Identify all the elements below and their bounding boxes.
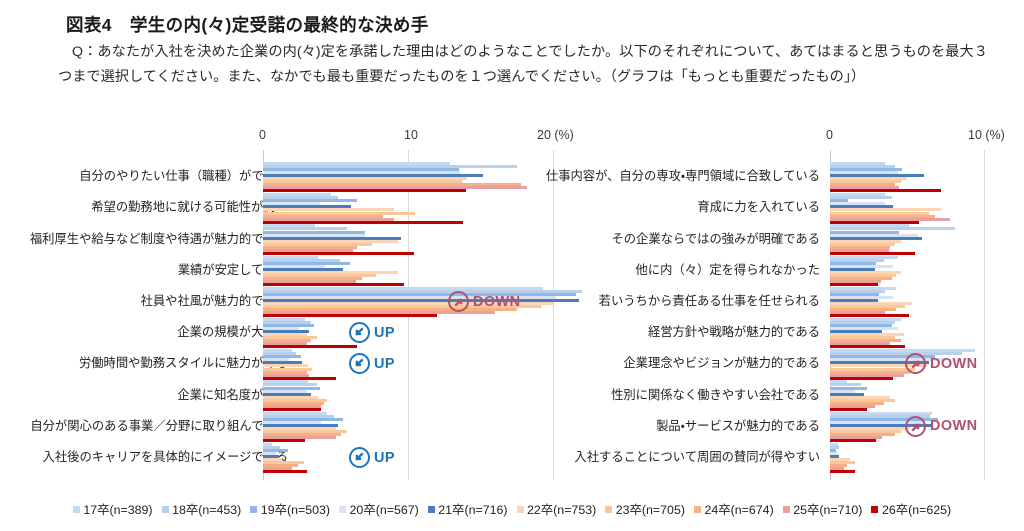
legend-item: 25卒(n=710): [783, 500, 863, 518]
legend-swatch: [783, 506, 790, 513]
legend-swatch: [162, 506, 169, 513]
chart-right-plot: 仕事内容が、自分の専攻・専門領域に合致している育成に力を入れているその企業ならで…: [520, 150, 1024, 480]
legend-swatch: [250, 506, 257, 513]
gridline: [984, 150, 985, 480]
category-label: その企業ならではの強みが明確である: [611, 232, 820, 246]
bar: [263, 252, 414, 255]
bar: [830, 377, 893, 380]
legend-item: 20卒(n=567): [339, 500, 419, 518]
legend-label: 23卒(n=705): [616, 500, 685, 518]
bar: [263, 314, 437, 317]
trend-down-badge: DOWN: [905, 416, 978, 437]
bar: [263, 283, 404, 286]
trend-badge-label: DOWN: [930, 418, 978, 434]
figure-page: 図表4 学生の内(々)定受諾の最終的な決め手 Q：あなたが入社を決めた企業の内(…: [0, 0, 1024, 531]
legend-label: 26卒(n=625): [882, 500, 951, 518]
legend-item: 18卒(n=453): [162, 500, 242, 518]
category-label: 労働時間や勤務スタイルに魅力がある: [79, 356, 288, 370]
legend-label: 20卒(n=567): [350, 500, 419, 518]
bar: [263, 408, 321, 411]
legend-label: 25卒(n=710): [793, 500, 862, 518]
legend-item: 17卒(n=389): [73, 500, 153, 518]
bar: [830, 314, 909, 317]
legend-item: 26卒(n=625): [871, 500, 951, 518]
category-label: 育成に力を入れている: [697, 200, 820, 214]
category-label: 企業理念やビジョンが魅力的である: [623, 356, 820, 370]
x-axis-tick: 0: [259, 128, 266, 142]
bar: [830, 221, 919, 224]
legend-item: 19卒(n=503): [250, 500, 330, 518]
arrow-up-icon: [349, 353, 370, 374]
category-label: 若いうちから責任ある仕事を任せられる: [599, 294, 820, 308]
legend-label: 18卒(n=453): [172, 500, 241, 518]
legend-item: 23卒(n=705): [605, 500, 685, 518]
chart-left-plot: 自分のやりたい仕事（職種）ができる希望の勤務地に就ける可能性が高い福利厚生や給与…: [0, 150, 596, 480]
category-label: 自分のやりたい仕事（職種）ができる: [79, 169, 288, 183]
bar: [830, 408, 867, 411]
legend-item: 21卒(n=716): [428, 500, 508, 518]
bar: [830, 189, 941, 192]
chart-right-xaxis: 010 (%): [520, 128, 1024, 150]
category-label: 希望の勤務地に就ける可能性が高い: [91, 200, 288, 214]
x-axis-tick: 10 (%): [968, 128, 1005, 142]
x-axis-tick: 10: [404, 128, 418, 142]
bar: [263, 377, 336, 380]
chart-left: 01020 (%) 自分のやりたい仕事（職種）ができる希望の勤務地に就ける可能性…: [0, 128, 596, 480]
question-text: Q：あなたが入社を決めた企業の内(々)定を承諾した理由はどのようなことでしたか。…: [58, 40, 988, 90]
legend-swatch: [871, 506, 878, 513]
arrow-down-icon: [448, 291, 469, 312]
bar: [263, 221, 463, 224]
trend-down-badge: DOWN: [905, 353, 978, 374]
legend-item: 24卒(n=674): [694, 500, 774, 518]
legend-label: 19卒(n=503): [261, 500, 330, 518]
trend-badge-label: UP: [374, 325, 395, 341]
chart-right: 010 (%) 仕事内容が、自分の専攻・専門領域に合致している育成に力を入れてい…: [520, 128, 1024, 480]
legend-swatch: [517, 506, 524, 513]
arrow-up-icon: [349, 322, 370, 343]
legend-swatch: [605, 506, 612, 513]
legend-label: 22卒(n=753): [527, 500, 596, 518]
category-label: 入社後のキャリアを具体的にイメージできる: [43, 450, 288, 464]
trend-up-badge: UP: [349, 322, 395, 343]
trend-up-badge: UP: [349, 447, 395, 468]
trend-badge-label: UP: [374, 450, 395, 466]
bar: [830, 470, 855, 473]
x-axis-tick: 0: [826, 128, 833, 142]
legend-label: 24卒(n=674): [704, 500, 773, 518]
trend-badge-label: DOWN: [930, 356, 978, 372]
chart-legend: 17卒(n=389)18卒(n=453)19卒(n=503)20卒(n=567)…: [0, 500, 1024, 518]
arrow-down-icon: [905, 416, 926, 437]
category-label: 入社することについて周囲の賛同が得やすい: [574, 450, 820, 464]
bar: [830, 283, 878, 286]
category-label: 福利厚生や給与など制度や待遇が魅力的である: [30, 232, 288, 246]
bar: [263, 345, 357, 348]
question-line-3: 重要だったもの」）: [745, 69, 866, 85]
category-label: 仕事内容が、自分の専攻・専門領域に合致している: [546, 169, 820, 183]
legend-swatch: [694, 506, 701, 513]
legend-swatch: [339, 506, 346, 513]
bar: [830, 439, 876, 442]
bar: [263, 439, 305, 442]
legend-swatch: [428, 506, 435, 513]
arrow-up-icon: [349, 447, 370, 468]
page-title: 図表4 学生の内(々)定受諾の最終的な決め手: [66, 12, 429, 37]
bar: [263, 189, 466, 192]
bar: [263, 470, 307, 473]
legend-item: 22卒(n=753): [517, 500, 597, 518]
bar: [830, 252, 915, 255]
category-label: 他に内（々）定を得られなかった: [636, 263, 820, 277]
category-label: 製品・サービスが魅力的である: [656, 419, 820, 433]
chart-left-xaxis: 01020 (%): [0, 128, 596, 150]
category-label: 自分が関心のある事業／分野に取り組んでいる: [30, 419, 288, 433]
trend-down-badge: DOWN: [448, 291, 521, 312]
arrow-down-icon: [905, 353, 926, 374]
category-label: 経営方針や戦略が魅力的である: [648, 325, 820, 339]
trend-badge-label: DOWN: [473, 294, 521, 310]
category-label: 性別に関係なく働きやすい会社である: [611, 388, 820, 402]
legend-label: 21卒(n=716): [438, 500, 507, 518]
trend-up-badge: UP: [349, 353, 395, 374]
legend-label: 17卒(n=389): [83, 500, 152, 518]
bar: [830, 345, 905, 348]
trend-badge-label: UP: [374, 356, 395, 372]
question-line-1: Q：あなたが入社を決めた企業の内(々)定を承諾した理由はどのようなことでしたか。…: [72, 44, 860, 60]
legend-swatch: [73, 506, 80, 513]
